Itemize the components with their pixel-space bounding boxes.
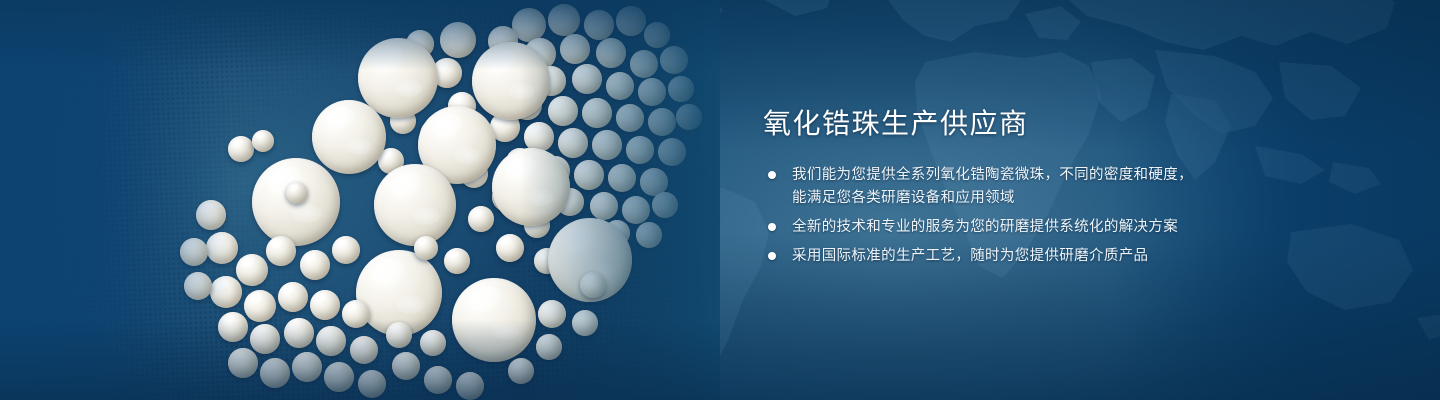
list-item: 我们能为您提供全系列氧化锆陶瓷微珠，不同的密度和硬度， 能满足您各类研磨设备和应… (763, 164, 1363, 210)
photo-top-fade (0, 0, 720, 70)
list-item: 采用国际标准的生产工艺，随时为您提供研磨介质产品 (763, 245, 1363, 268)
bullet-dot-icon (768, 223, 776, 231)
bullet-line-1: 我们能为您提供全系列氧化锆陶瓷微珠，不同的密度和硬度， (792, 167, 1193, 183)
banner-bullet-list: 我们能为您提供全系列氧化锆陶瓷微珠，不同的密度和硬度， 能满足您各类研磨设备和应… (763, 164, 1363, 268)
bullet-line-1: 全新的技术和专业的服务为您的研磨提供系统化的解决方案 (792, 219, 1178, 235)
bullet-text: 全新的技术和专业的服务为您的研磨提供系统化的解决方案 (792, 216, 1178, 239)
bullet-line-2: 能满足您各类研磨设备和应用领域 (792, 187, 1193, 210)
promo-banner: 氧化锆珠生产供应商 我们能为您提供全系列氧化锆陶瓷微珠，不同的密度和硬度， 能满… (0, 0, 1440, 400)
zirconia-beads-photo (0, 0, 720, 400)
banner-content: 氧化锆珠生产供应商 我们能为您提供全系列氧化锆陶瓷微珠，不同的密度和硬度， 能满… (763, 106, 1363, 274)
list-item: 全新的技术和专业的服务为您的研磨提供系统化的解决方案 (763, 216, 1363, 239)
photo-bottom-fade (0, 320, 720, 400)
bullet-dot-icon (768, 252, 776, 260)
banner-headline: 氧化锆珠生产供应商 (763, 106, 1363, 142)
bullet-line-1: 采用国际标准的生产工艺，随时为您提供研磨介质产品 (792, 248, 1148, 264)
bullet-text: 采用国际标准的生产工艺，随时为您提供研磨介质产品 (792, 245, 1148, 268)
bullet-dot-icon (768, 171, 776, 179)
bullet-text: 我们能为您提供全系列氧化锆陶瓷微珠，不同的密度和硬度， 能满足您各类研磨设备和应… (792, 164, 1193, 210)
